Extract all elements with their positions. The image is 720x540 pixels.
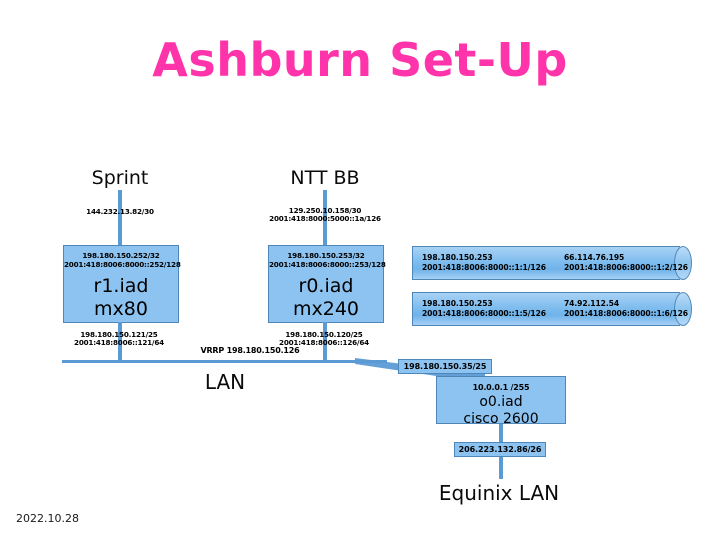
provider-label-ntt: NTT BB [263, 167, 387, 189]
router-node-r0-iad[interactable]: 198.180.150.253/32 2001:418:8006:8000::2… [268, 245, 384, 323]
tunnel-2-remote-v6: 2001:418:8006:8000::1:6/126 [564, 309, 688, 319]
tunnel-1-remote: 66.114.76.195 2001:418:8006:8000::1:2/12… [564, 253, 688, 273]
equinix-lan-label: Equinix LAN [419, 481, 579, 505]
r0-loopback-v6: 2001:418:8006:8000::253/128 [269, 260, 383, 269]
tunnel-2-local-v4: 198.180.150.253 [422, 299, 546, 309]
r1-loopback-v4: 198.180.150.252/32 [64, 251, 178, 260]
tunnel-1-remote-v6: 2001:418:8006:8000::1:2/126 [564, 263, 688, 273]
r1-model: mx80 [64, 298, 178, 321]
router-node-r1-iad[interactable]: 198.180.150.252/32 2001:418:8006:8000::2… [63, 245, 179, 323]
o0-hostname: o0.iad [437, 394, 565, 411]
chip-equinix-link[interactable]: 206.223.132.86/26 [454, 442, 546, 457]
lan-label: LAN [165, 370, 285, 394]
slide-canvas: Ashburn Set-Up Sprint 144.232.13.82/30 N… [0, 0, 720, 540]
r0-hostname: r0.iad [269, 275, 383, 298]
r0-loopback-v4: 198.180.150.253/32 [269, 251, 383, 260]
lan-vrrp-label: VRRP 198.180.150.126 [180, 346, 320, 355]
r1-lan-v6: 2001:418:8006::121/64 [54, 338, 184, 347]
link-sprint-to-r1 [118, 190, 122, 246]
uplink-sprint-v4: 144.232.13.82/30 [56, 207, 184, 216]
r1-hostname: r1.iad [64, 275, 178, 298]
tunnel-2-local-v6: 2001:418:8006:8000::1:5/126 [422, 309, 546, 319]
tunnel-cylinder-1[interactable]: 198.180.150.253 2001:418:8006:8000::1:1/… [412, 246, 692, 280]
uplink-ntt-v6: 2001:418:8000:5000::1a/126 [261, 214, 389, 223]
chip-lan-switch-link[interactable]: 198.180.150.35/25 [398, 359, 492, 374]
slide-date: 2022.10.28 [16, 512, 79, 525]
tunnel-1-local-v6: 2001:418:8006:8000::1:1/126 [422, 263, 546, 273]
tunnel-1-remote-v4: 66.114.76.195 [564, 253, 688, 263]
router-node-o0-iad[interactable]: 10.0.0.1 /255 o0.iad cisco 2600 [436, 376, 566, 424]
page-title: Ashburn Set-Up [0, 34, 720, 86]
tunnel-2-local: 198.180.150.253 2001:418:8006:8000::1:5/… [422, 299, 546, 319]
r1-loopback-v6: 2001:418:8006:8000::252/128 [64, 260, 178, 269]
provider-label-sprint: Sprint [58, 167, 182, 189]
tunnel-2-remote-v4: 74.92.112.54 [564, 299, 688, 309]
tunnel-cylinder-2[interactable]: 198.180.150.253 2001:418:8006:8000::1:5/… [412, 292, 692, 326]
lan-bus-line [62, 360, 387, 363]
tunnel-1-local-v4: 198.180.150.253 [422, 253, 546, 263]
tunnel-1-local: 198.180.150.253 2001:418:8006:8000::1:1/… [422, 253, 546, 273]
tunnel-2-remote: 74.92.112.54 2001:418:8006:8000::1:6/126 [564, 299, 688, 319]
o0-ip: 10.0.0.1 /255 [437, 383, 565, 392]
link-o0-to-equinix-lower [499, 457, 503, 479]
r0-model: mx240 [269, 298, 383, 321]
